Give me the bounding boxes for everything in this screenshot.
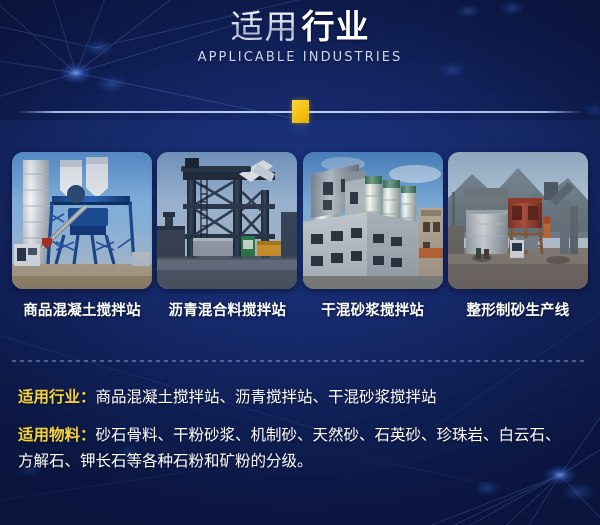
info-row-industry: 适用行业：商品混凝土搅拌站、沥青搅拌站、干混砂浆搅拌站	[18, 385, 588, 409]
page-title-light: 适用	[231, 7, 299, 46]
page-subtitle: APPLICABLE INDUSTRIES	[0, 50, 600, 65]
header-divider	[0, 100, 600, 124]
card-photo-shade	[303, 152, 443, 289]
material-value: 砂石骨料、干粉砂浆、机制砂、天然砂、石英砂、珍珠岩、白云石、	[96, 426, 561, 444]
material-value-continued: 方解石、钾长石等各种石粉和矿粉的分级。	[18, 452, 313, 470]
industry-card[interactable]	[157, 152, 297, 289]
industry-label: 适用行业：	[18, 388, 96, 406]
industry-card-captions: 商品混凝土搅拌站 沥青混合料搅拌站 干混砂浆搅拌站 整形制砂生产线	[0, 299, 600, 323]
industry-card[interactable]	[12, 152, 152, 289]
info-block: 适用行业：商品混凝土搅拌站、沥青搅拌站、干混砂浆搅拌站 适用物料：砂石骨料、干粉…	[18, 385, 588, 474]
card-caption: 商品混凝土搅拌站	[12, 299, 152, 323]
card-caption: 整形制砂生产线	[448, 299, 588, 323]
section-header: 适用行业 APPLICABLE INDUSTRIES	[0, 0, 600, 65]
page-title-bold: 行业	[302, 7, 370, 46]
card-photo-shade	[157, 152, 297, 289]
material-label: 适用物料：	[18, 426, 96, 444]
info-row-material: 适用物料：砂石骨料、干粉砂浆、机制砂、天然砂、石英砂、珍珠岩、白云石、 方解石、…	[18, 422, 588, 474]
card-photo-shade	[12, 152, 152, 289]
industry-card[interactable]	[303, 152, 443, 289]
page-title: 适用行业	[0, 7, 600, 46]
section-separator	[12, 360, 588, 362]
card-photo-shade	[448, 152, 588, 289]
industry-card[interactable]	[448, 152, 588, 289]
divider-accent-square	[292, 100, 309, 123]
card-caption: 干混砂浆搅拌站	[303, 299, 443, 323]
industry-value: 商品混凝土搅拌站、沥青搅拌站、干混砂浆搅拌站	[96, 388, 437, 406]
card-caption: 沥青混合料搅拌站	[157, 299, 297, 323]
